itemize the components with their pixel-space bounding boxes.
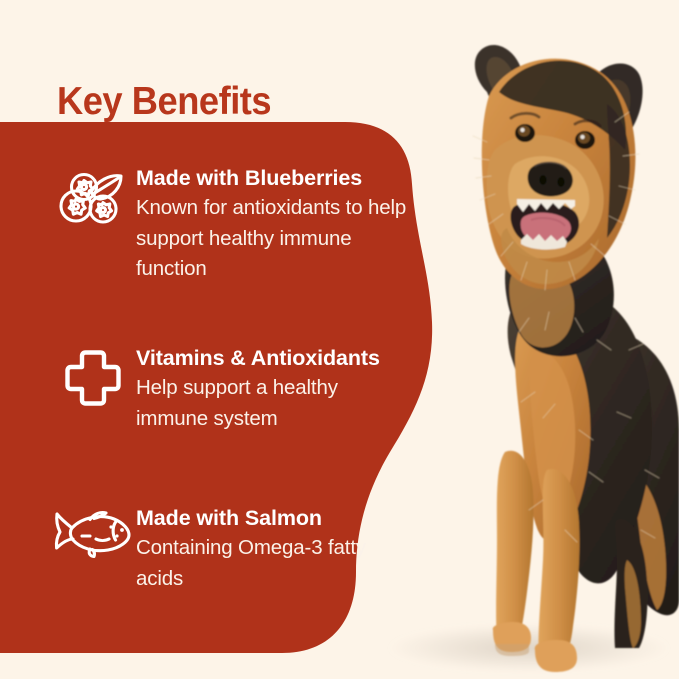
- benefit-text-salmon: Made with Salmon Containing Omega-3 fatt…: [136, 504, 414, 594]
- plus-icon: [50, 344, 136, 408]
- salmon-fish-icon: [50, 504, 136, 558]
- benefit-item-vitamins: Vitamins & Antioxidants Help support a h…: [50, 344, 414, 434]
- benefit-heading: Made with Blueberries: [136, 164, 386, 192]
- benefit-item-blueberries: Made with Blueberries Known for antioxid…: [50, 164, 414, 285]
- benefit-text-vitamins: Vitamins & Antioxidants Help support a h…: [136, 344, 414, 434]
- page-title: Key Benefits: [57, 80, 271, 124]
- blueberries-icon: [50, 164, 136, 232]
- benefit-text-blueberries: Made with Blueberries Known for antioxid…: [136, 164, 414, 285]
- product-benefits-panel: Key Benefits: [0, 0, 679, 679]
- benefit-body: Known for antioxidants to help support h…: [136, 193, 414, 285]
- benefit-body: Containing Omega-3 fatty acids: [136, 533, 414, 594]
- benefit-heading: Vitamins & Antioxidants: [136, 344, 386, 372]
- benefit-body: Help support a healthy immune system: [136, 373, 414, 434]
- benefit-item-salmon: Made with Salmon Containing Omega-3 fatt…: [50, 504, 414, 594]
- benefit-heading: Made with Salmon: [136, 504, 386, 532]
